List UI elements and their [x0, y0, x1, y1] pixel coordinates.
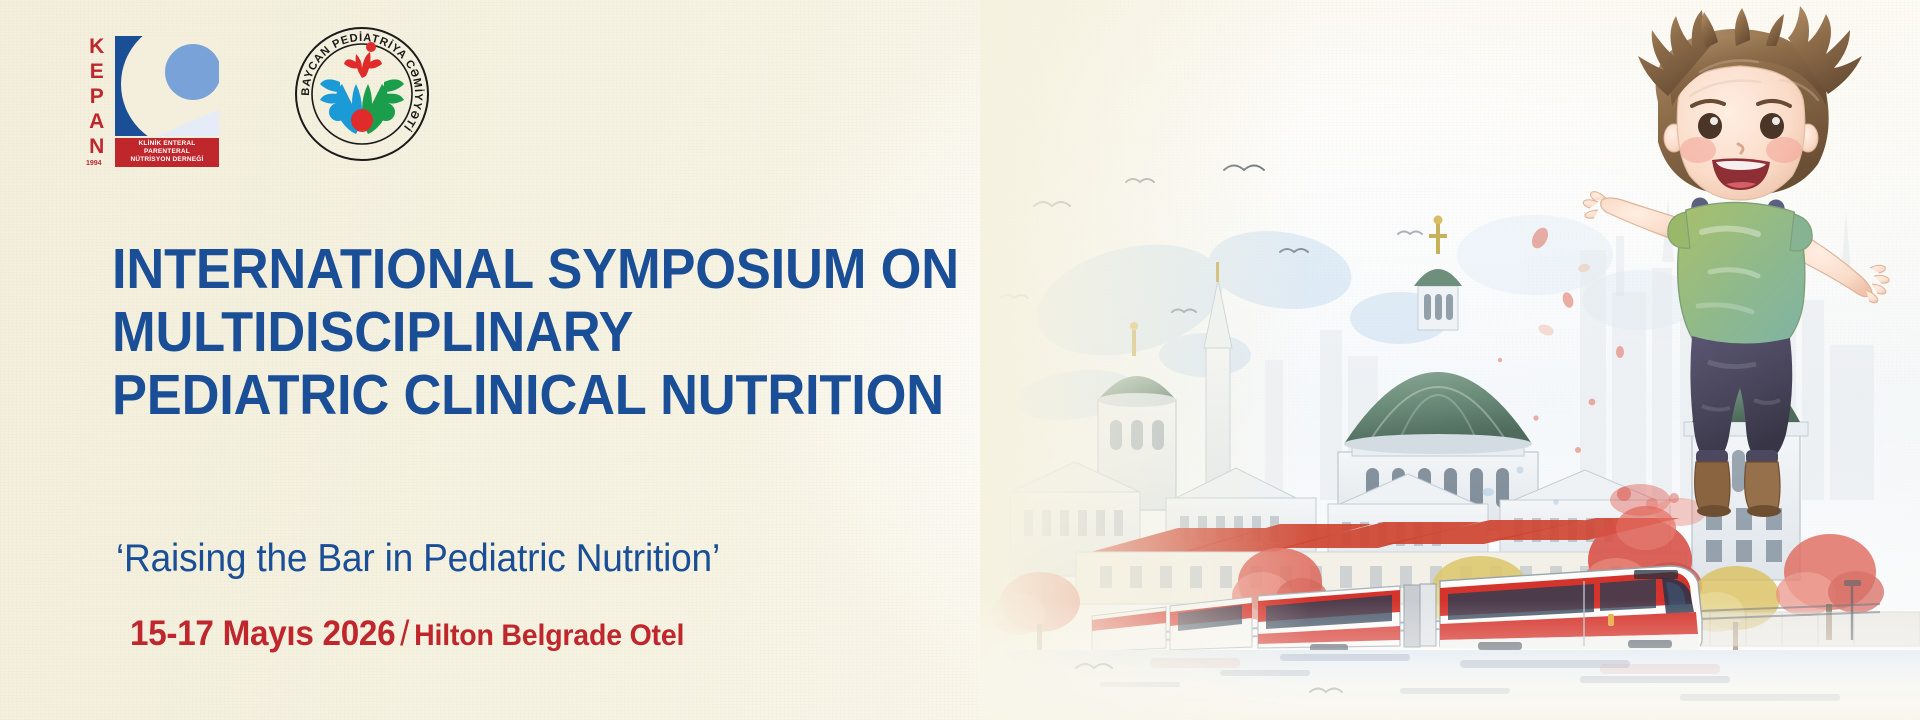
- kepan-logo: K E P A N KLİNİK ENTERAL PARENTERAL NÜTR…: [84, 26, 232, 162]
- kepan-letter-p: P: [90, 84, 105, 109]
- kepan-letter-a: A: [89, 109, 105, 134]
- title-line-3: PEDIATRIC CLINICAL NUTRITION: [112, 364, 1087, 427]
- kepan-letter-k: K: [89, 34, 105, 59]
- event-dateline: 15-17 Mayıs 2026/Hilton Belgrade Otel: [130, 614, 684, 654]
- kepan-subtitle-line2: NÜTRİSYON DERNEĞİ: [117, 156, 217, 164]
- dateline-separator: /: [395, 614, 414, 653]
- conference-banner: K E P A N KLİNİK ENTERAL PARENTERAL NÜTR…: [0, 0, 1920, 720]
- child-face: [1677, 66, 1805, 200]
- logo-row: K E P A N KLİNİK ENTERAL PARENTERAL NÜTR…: [84, 26, 430, 166]
- event-venue: Hilton Belgrade Otel: [414, 619, 684, 652]
- tagline: ‘Raising the Bar in Pediatric Nutrition’: [116, 537, 720, 581]
- kepan-subtitle-line1: KLİNİK ENTERAL PARENTERAL: [117, 140, 217, 156]
- title-line-2: MULTIDISCIPLINARY: [112, 301, 1087, 364]
- kepan-emblem-icon: [115, 36, 219, 136]
- kepan-letter-n: N: [89, 134, 105, 159]
- event-dates: 15-17 Mayıs 2026: [130, 614, 395, 653]
- azerbaijan-pediatric-society-logo: AZƏRBAYCAN PEDİATRİYA CƏMİYYƏTİ: [294, 26, 430, 162]
- title-line-1: INTERNATIONAL SYMPOSIUM ON: [112, 238, 1087, 301]
- kepan-acronym: K E P A N: [84, 34, 110, 159]
- kepan-letter-e: E: [90, 59, 105, 84]
- child-shirt: [1668, 202, 1812, 346]
- kepan-founded-year: 1994: [86, 160, 102, 167]
- kepan-subtitle: KLİNİK ENTERAL PARENTERAL NÜTRİSYON DERN…: [115, 138, 219, 167]
- title-block: INTERNATIONAL SYMPOSIUM ON MULTIDISCIPLI…: [112, 238, 1172, 427]
